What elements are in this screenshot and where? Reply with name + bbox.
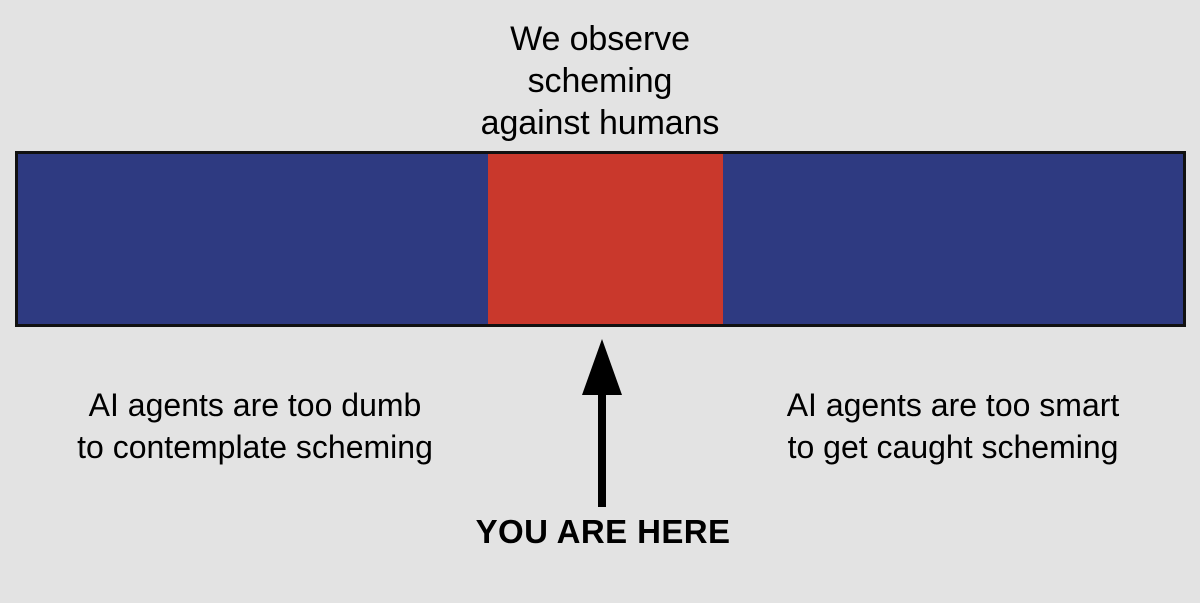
spectrum-bar — [15, 151, 1186, 327]
caption-left-line-2: to contemplate scheming — [30, 426, 480, 468]
caption-right-line-2: to get caught scheming — [728, 426, 1178, 468]
you-are-here-label: YOU ARE HERE — [403, 513, 803, 551]
caption-right-line-1: AI agents are too smart — [728, 384, 1178, 426]
diagram-canvas: We observe scheming against humans AI ag… — [0, 0, 1200, 603]
spectrum-segment-too-smart — [723, 154, 1183, 324]
top-caption-line-3: against humans — [380, 102, 820, 144]
caption-left-line-1: AI agents are too dumb — [30, 384, 480, 426]
top-caption-line-1: We observe — [380, 18, 820, 60]
top-caption-line-2: scheming — [380, 60, 820, 102]
spectrum-segment-observable-scheming — [488, 154, 723, 324]
caption-left: AI agents are too dumb to contemplate sc… — [30, 384, 480, 468]
caption-right: AI agents are too smart to get caught sc… — [728, 384, 1178, 468]
spectrum-segment-too-dumb — [18, 154, 488, 324]
top-caption: We observe scheming against humans — [380, 18, 820, 144]
up-arrow-icon — [581, 339, 623, 507]
